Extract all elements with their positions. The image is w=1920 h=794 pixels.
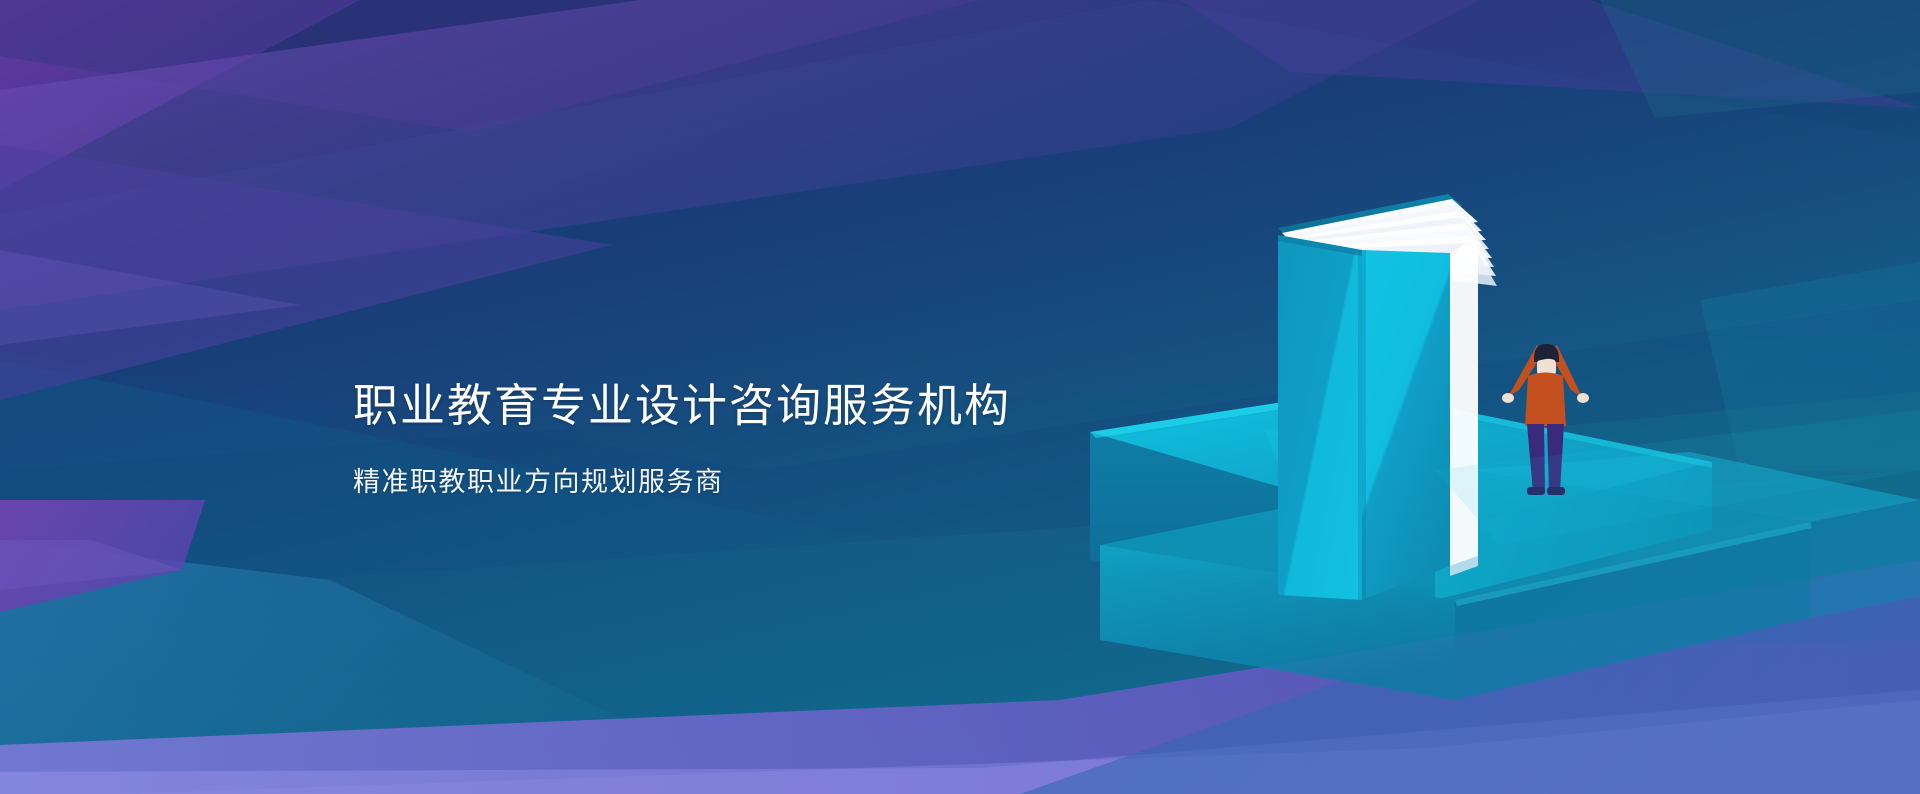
book-cover-right bbox=[1450, 236, 1478, 566]
page-title: 职业教育专业设计咨询服务机构 bbox=[353, 378, 1113, 434]
page-subtitle: 精准职教职业方向规划服务商 bbox=[353, 464, 1113, 500]
book-face-right bbox=[1362, 250, 1450, 600]
book-fold-shadow bbox=[1358, 250, 1366, 600]
open-book-icon bbox=[1278, 194, 1497, 600]
person-torso bbox=[1525, 373, 1566, 427]
person-hand-right bbox=[1577, 393, 1589, 403]
hero-text-block: 职业教育专业设计咨询服务机构 精准职教职业方向规划服务商 bbox=[353, 378, 1113, 500]
hero-banner: 职业教育专业设计咨询服务机构 精准职教职业方向规划服务商 bbox=[0, 0, 1920, 794]
person-hand-left bbox=[1502, 393, 1514, 403]
book-face-left bbox=[1278, 235, 1362, 600]
